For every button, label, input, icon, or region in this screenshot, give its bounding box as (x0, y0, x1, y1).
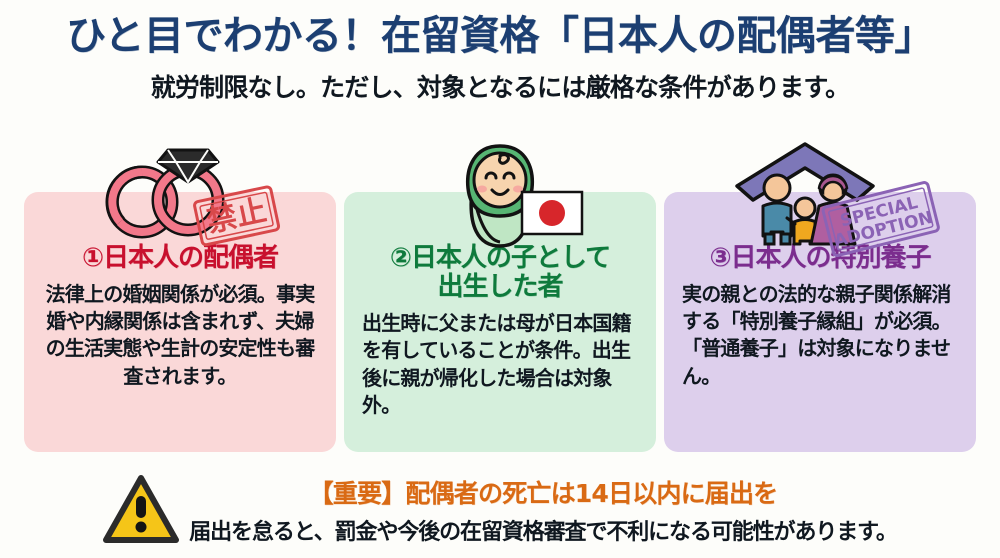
mother-figure (811, 175, 855, 244)
card-child-title: ②日本人の子として 出生した者 (358, 244, 642, 302)
card-adopted-body: 実の親との法的な親子関係解消する「特別養子縁組」が必須。「普通養子」は対象になり… (678, 281, 962, 390)
warning-triangle-icon (103, 474, 179, 548)
important-notice-headline: 【重要】配偶者の死亡は14日以内に届出を (189, 474, 897, 510)
card-spouse-title: ①日本人の配偶者 (38, 244, 322, 273)
prohibited-stamp-text: 禁止 (204, 193, 270, 240)
child-figure (787, 198, 823, 244)
page-subtitle: 就労制限なし。ただし、対象となるには厳格な条件があります。 (0, 68, 1000, 104)
wedding-rings-icon: 禁止 (24, 142, 336, 246)
card-child-body: 出生時に父または母が日本国籍を有していることが条件。出生後に親が帰化した場合は対… (358, 310, 642, 419)
page-title: ひと目でわかる！在留資格「日本人の配偶者等」 (0, 14, 1000, 59)
requirement-cards: 禁止 ①日本人の配偶者 法律上の婚姻関係が必須。事実婚や内縁関係は含まれず、夫婦… (0, 192, 1000, 452)
card-spouse: 禁止 ①日本人の配偶者 法律上の婚姻関係が必須。事実婚や内縁関係は含まれず、夫婦… (24, 192, 336, 452)
card-adopted: SPECIAL ADOPTION ③日本人の特別養子 実の親との法的な親子関係解… (664, 192, 976, 452)
card-child: ②日本人の子として 出生した者 出生時に父または母が日本国籍を有していることが条… (344, 192, 656, 452)
card-spouse-body: 法律上の婚姻関係が必須。事実婚や内縁関係は含まれず、夫婦の生活実態や生計の安定性… (38, 281, 322, 390)
infographic-header: ひと目でわかる！在留資格「日本人の配偶者等」 就労制限なし。ただし、対象となるに… (0, 0, 1000, 104)
prohibited-stamp: 禁止 (194, 186, 279, 245)
swaddled-baby-with-japan-flag-icon (344, 142, 656, 246)
card-adopted-title: ③日本人の特別養子 (678, 244, 962, 273)
special-adoption-stamp-line1: SPECIAL (838, 193, 920, 232)
important-notice-text: 【重要】配偶者の死亡は14日以内に届出を 届出を怠ると、罰金や今後の在留資格審査… (189, 474, 897, 546)
family-under-roof-icon: SPECIAL ADOPTION (664, 142, 976, 246)
important-notice-note: 届出を怠ると、罰金や今後の在留資格審査で不利になる可能性があります。 (189, 514, 897, 546)
japan-flag-icon (522, 192, 582, 234)
important-notice: 【重要】配偶者の死亡は14日以内に届出を 届出を怠ると、罰金や今後の在留資格審査… (0, 462, 1000, 558)
father-figure (763, 175, 791, 244)
